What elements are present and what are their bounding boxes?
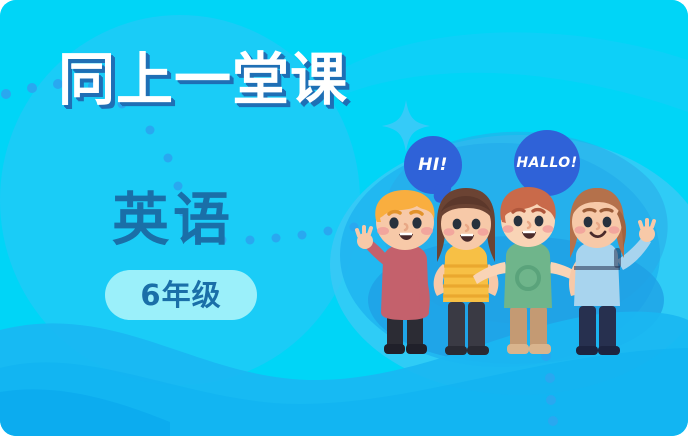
speech-bubble-hi-text: HI! — [418, 157, 448, 174]
kids-illustration — [355, 186, 675, 356]
grade-badge-label: 6年级 — [140, 281, 221, 310]
kid-4-waving-girl — [569, 188, 655, 355]
title-block: 同上一堂课 英语 6年级 — [0, 0, 360, 436]
course-poster-card: 同上一堂课 英语 6年级 HI! HALLO! — [0, 0, 688, 436]
subject-title: 英语 — [112, 192, 234, 249]
grade-badge: 6年级 — [105, 270, 257, 320]
page-title: 同上一堂课 — [58, 52, 348, 109]
kid-1-blonde-boy — [357, 190, 434, 354]
speech-bubble-hallo-text: HALLO! — [516, 156, 577, 170]
